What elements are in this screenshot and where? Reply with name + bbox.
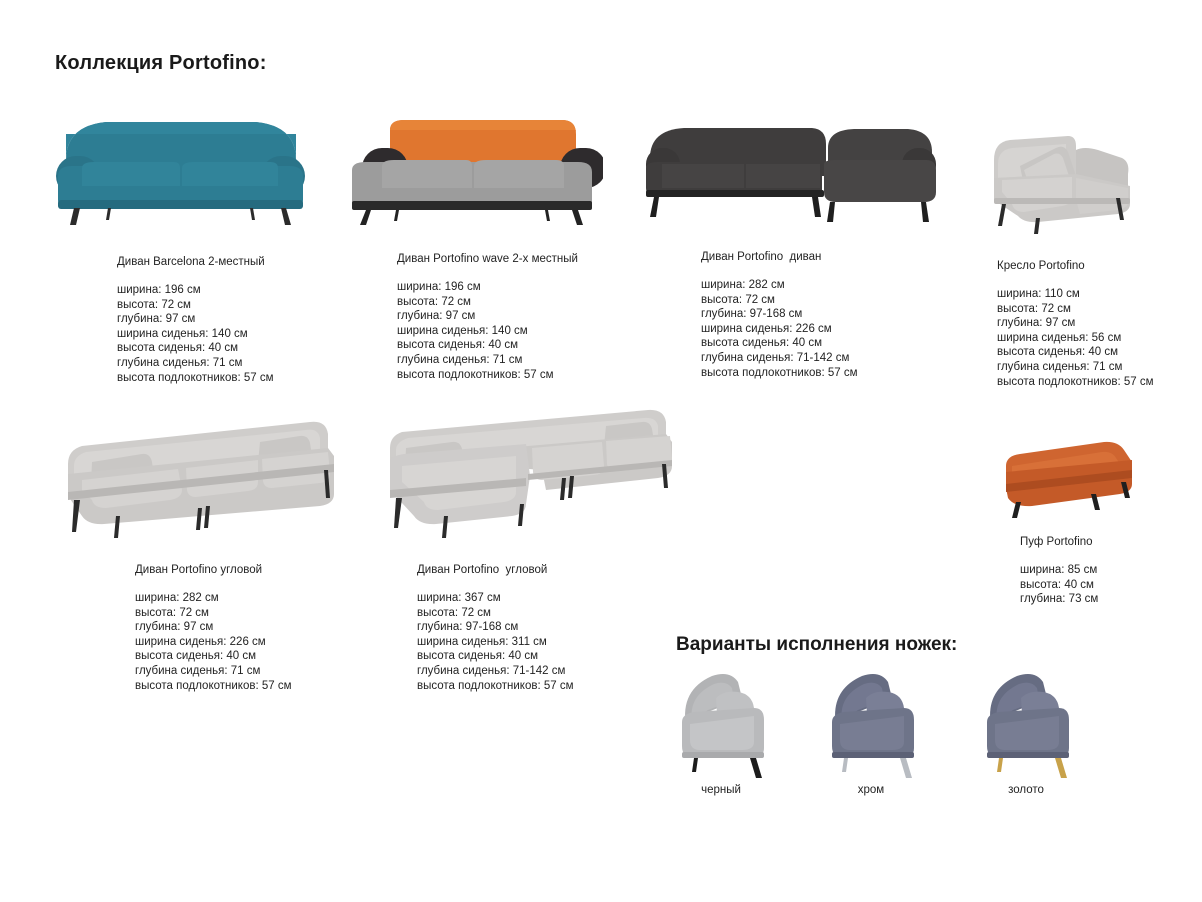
product-image-puf-portofino [992, 432, 1144, 520]
spec-line: ширина сиденья: 226 см [135, 635, 410, 650]
spec-line: ширина сиденья: 140 см [397, 324, 672, 339]
product-info-portofino-uglovoy-367: Диван Portofino угловой ширина: 367 см в… [417, 563, 692, 693]
product-image-kreslo-portofino [980, 122, 1140, 234]
product-info-puf-portofino: Пуф Portofino ширина: 85 см высота: 40 с… [1020, 535, 1200, 607]
spec-line: ширина: 85 см [1020, 563, 1200, 578]
spec-line: ширина сиденья: 311 см [417, 635, 692, 650]
spec-line: глубина сиденья: 71 см [117, 356, 392, 371]
spec-line: высота: 72 см [997, 302, 1202, 317]
product-name: Диван Portofino угловой [135, 563, 410, 577]
spec-line: глубина: 97 см [997, 316, 1202, 331]
spec-line: ширина: 196 см [397, 280, 672, 295]
product-image-portofino-uglovoy-367 [376, 404, 698, 540]
spec-line: высота подлокотников: 57 см [135, 679, 410, 694]
spec-line: глубина сиденья: 71 см [997, 360, 1202, 375]
spec-line: глубина сиденья: 71-142 см [701, 351, 976, 366]
spec-line: высота подлокотников: 57 см [701, 366, 976, 381]
spec-line: высота подлокотников: 57 см [417, 679, 692, 694]
spec-line: глубина: 97 см [117, 312, 392, 327]
product-specs: ширина: 85 см высота: 40 см глубина: 73 … [1020, 563, 1200, 607]
spec-line: высота сиденья: 40 см [397, 338, 672, 353]
product-specs: ширина: 282 см высота: 72 см глубина: 97… [701, 278, 976, 380]
leg-option-label: хром [811, 784, 931, 796]
product-image-portofino-uglovoy-282 [52, 412, 354, 540]
spec-line: высота подлокотников: 57 см [117, 371, 392, 386]
legs-section-title: Варианты исполнения ножек: [676, 634, 957, 656]
spec-line: ширина сиденья: 140 см [117, 327, 392, 342]
spec-line: ширина: 367 см [417, 591, 692, 606]
spec-line: высота: 72 см [701, 293, 976, 308]
spec-line: глубина сиденья: 71 см [135, 664, 410, 679]
spec-line: высота сиденья: 40 см [117, 341, 392, 356]
spec-line: высота: 72 см [117, 298, 392, 313]
product-image-portofino-wave-2 [338, 108, 603, 226]
page-title: Коллекция Portofino: [55, 52, 267, 75]
product-name: Кресло Portofino [997, 259, 1202, 273]
product-info-portofino-divan: Диван Portofino диван ширина: 282 см выс… [701, 250, 976, 380]
spec-line: высота: 40 см [1020, 578, 1200, 593]
spec-line: высота сиденья: 40 см [417, 649, 692, 664]
spec-line: ширина сиденья: 56 см [997, 331, 1202, 346]
product-specs: ширина: 196 см высота: 72 см глубина: 97… [117, 283, 392, 385]
spec-line: высота: 72 см [397, 295, 672, 310]
product-info-portofino-uglovoy-282: Диван Portofino угловой ширина: 282 см в… [135, 563, 410, 693]
spec-line: высота подлокотников: 57 см [997, 375, 1202, 390]
spec-line: высота сиденья: 40 см [135, 649, 410, 664]
spec-line: ширина: 196 см [117, 283, 392, 298]
product-name: Пуф Portofino [1020, 535, 1200, 549]
product-specs: ширина: 367 см высота: 72 см глубина: 97… [417, 591, 692, 693]
catalog-page: Коллекция Portofino: [0, 0, 1202, 902]
spec-line: глубина: 73 см [1020, 592, 1200, 607]
leg-option-chrome[interactable]: хром [818, 668, 924, 785]
product-info-barcelona-2: Диван Barcelona 2-местный ширина: 196 см… [117, 255, 392, 385]
spec-line: глубина: 97-168 см [701, 307, 976, 322]
product-name: Диван Portofino угловой [417, 563, 692, 577]
spec-line: высота: 72 см [417, 606, 692, 621]
product-name: Диван Barcelona 2-местный [117, 255, 392, 269]
spec-line: глубина сиденья: 71-142 см [417, 664, 692, 679]
spec-line: высота сиденья: 40 см [701, 336, 976, 351]
leg-option-label: золото [966, 784, 1086, 796]
product-specs: ширина: 196 см высота: 72 см глубина: 97… [397, 280, 672, 382]
product-info-portofino-wave-2: Диван Portofino wave 2-х местный ширина:… [397, 252, 672, 382]
spec-line: высота: 72 см [135, 606, 410, 621]
spec-line: глубина: 97 см [135, 620, 410, 635]
spec-line: глубина: 97-168 см [417, 620, 692, 635]
leg-option-label: черный [661, 784, 781, 796]
spec-line: ширина: 282 см [135, 591, 410, 606]
product-info-kreslo-portofino: Кресло Portofino ширина: 110 см высота: … [997, 259, 1202, 389]
spec-line: высота подлокотников: 57 см [397, 368, 672, 383]
spec-line: глубина сиденья: 71 см [397, 353, 672, 368]
product-image-portofino-divan [640, 118, 940, 224]
product-specs: ширина: 110 см высота: 72 см глубина: 97… [997, 287, 1202, 389]
spec-line: высота сиденья: 40 см [997, 345, 1202, 360]
spec-line: ширина сиденья: 226 см [701, 322, 976, 337]
spec-line: глубина: 97 см [397, 309, 672, 324]
product-specs: ширина: 282 см высота: 72 см глубина: 97… [135, 591, 410, 693]
product-name: Диван Portofino wave 2-х местный [397, 252, 672, 266]
spec-line: ширина: 282 см [701, 278, 976, 293]
spec-line: ширина: 110 см [997, 287, 1202, 302]
product-name: Диван Portofino диван [701, 250, 976, 264]
leg-option-gold[interactable]: золото [973, 668, 1079, 785]
leg-option-black[interactable]: черный [668, 668, 774, 785]
product-image-barcelona-2 [48, 108, 313, 226]
